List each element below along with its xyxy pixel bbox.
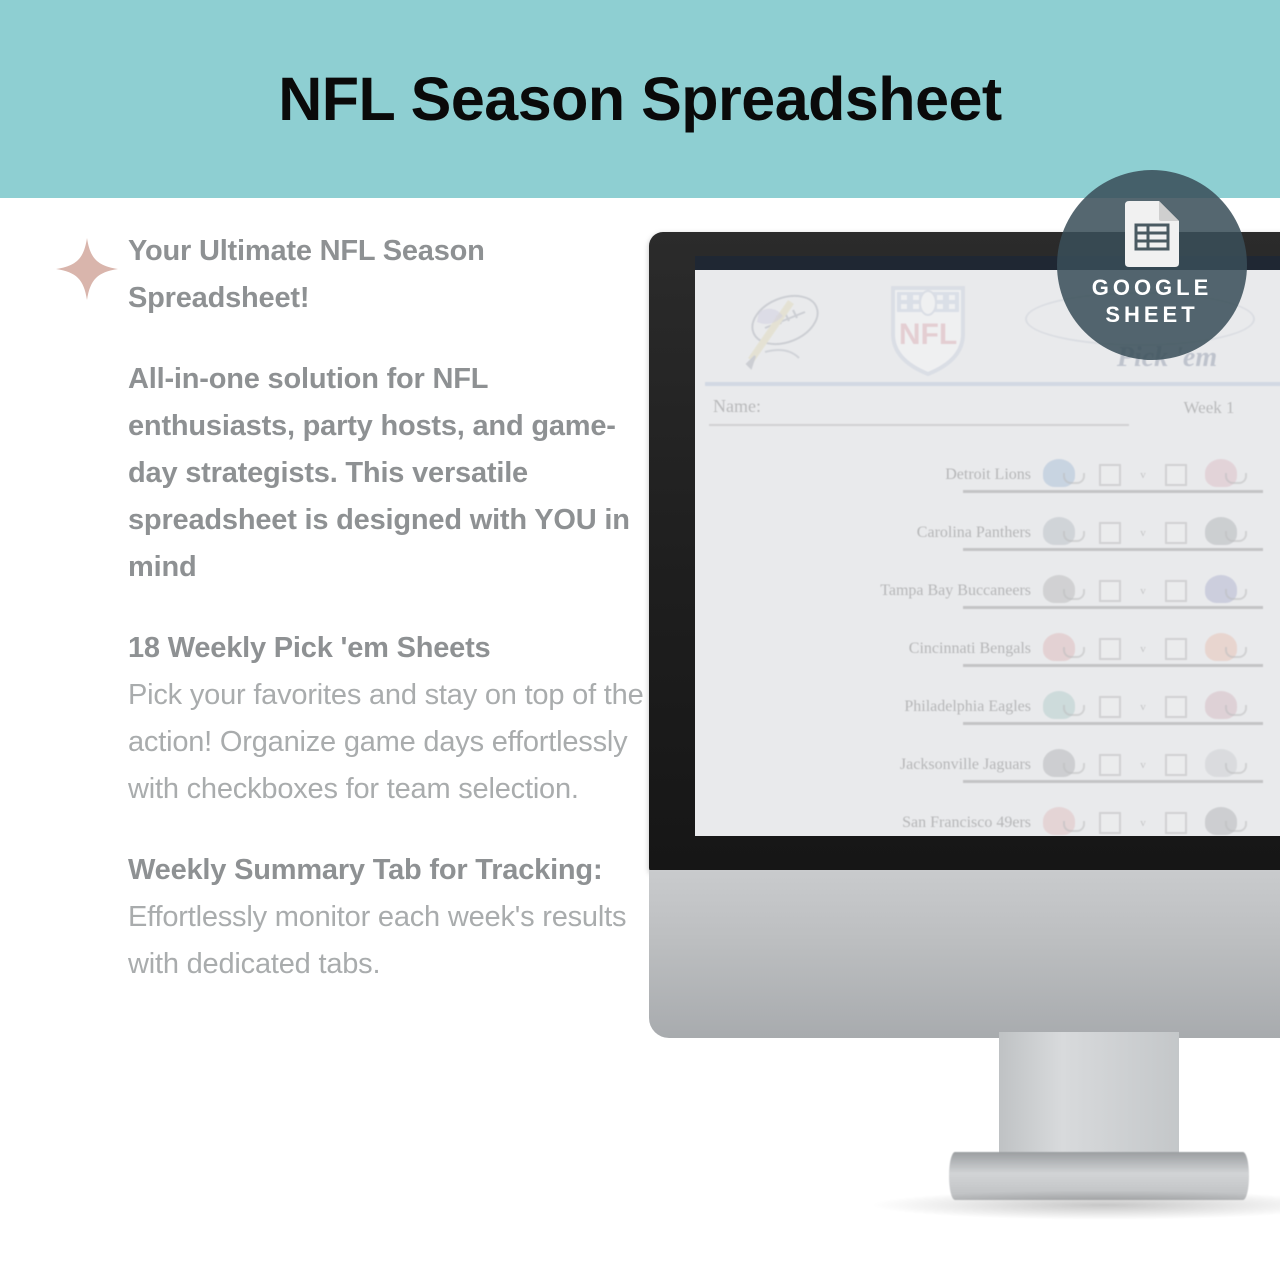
game-row: Cincinnati Bengalsv [709,620,1280,678]
away-team-helmet-icon [1039,457,1085,493]
nfl-shield-logo: NFL [885,282,971,378]
game-row: San Francisco 49ersv [709,794,1280,836]
away-team-name: Detroit Lions [709,466,1039,484]
header-banner: NFL Season Spreadsheet [0,0,1280,198]
home-team-checkbox[interactable] [1165,696,1187,718]
paragraph-summary-heading: Weekly Summary Tab for Tracking: [128,854,602,886]
game-row: Carolina Panthersv [709,504,1280,562]
monitor-stand-neck [999,1032,1179,1172]
away-team-name: Tampa Bay Buccaneers [709,582,1039,600]
away-team-helmet-icon [1039,689,1085,725]
name-input-line[interactable] [709,424,1129,426]
name-row: Name: Week 1 [709,396,1280,432]
home-team-checkbox[interactable] [1165,464,1187,486]
home-team-checkbox[interactable] [1165,522,1187,544]
away-team-helmet-icon [1039,631,1085,667]
away-team-helmet-icon [1039,747,1085,783]
game-row: Detroit Lionsv [709,446,1280,504]
google-sheets-document-icon [1125,201,1179,267]
home-team-checkbox[interactable] [1165,580,1187,602]
away-team-name: Carolina Panthers [709,524,1039,542]
paragraph-solution-text: All-in-one solution for NFL enthusiasts,… [128,356,648,591]
google-sheet-badge: GOOGLE SHEET [1057,170,1247,360]
row-divider [963,548,1263,551]
away-team-name: Cincinnati Bengals [709,640,1039,658]
versus-label: v [1135,469,1151,481]
away-team-checkbox[interactable] [1099,638,1121,660]
row-divider [963,722,1263,725]
away-team-checkbox[interactable] [1099,812,1121,834]
versus-label: v [1135,527,1151,539]
row-divider [963,490,1263,493]
away-team-helmet-icon [1039,515,1085,551]
home-team-checkbox[interactable] [1165,812,1187,834]
monitor-chin [649,870,1280,1038]
spreadsheet-content: NFL Pick 'em Name: Week 1 Detroit Lionsv… [695,270,1280,836]
home-team-helmet-icon [1201,747,1247,783]
badge-line-1: GOOGLE [1092,275,1213,302]
game-row: Philadelphia Eaglesv [709,678,1280,736]
away-team-checkbox[interactable] [1099,696,1121,718]
monitor-mockup: NFL Pick 'em Name: Week 1 Detroit Lionsv… [649,232,1280,1232]
page-title: NFL Season Spreadsheet [278,64,1002,134]
home-team-checkbox[interactable] [1165,638,1187,660]
name-label: Name: [713,396,761,417]
four-point-star-icon [56,238,118,300]
marketing-copy-column: Your Ultimate NFL Season Spreadsheet! Al… [128,228,648,1022]
versus-label: v [1135,585,1151,597]
paragraph-picks-heading: 18 Weekly Pick 'em Sheets [128,632,490,664]
away-team-helmet-icon [1039,573,1085,609]
versus-label: v [1135,759,1151,771]
paragraph-summary: Weekly Summary Tab for Tracking: Effortl… [128,847,648,988]
badge-line-2: SHEET [1105,302,1198,329]
game-row: Jacksonville Jaguarsv [709,736,1280,794]
row-divider [963,664,1263,667]
versus-label: v [1135,817,1151,829]
home-team-helmet-icon [1201,457,1247,493]
home-team-checkbox[interactable] [1165,754,1187,776]
home-team-helmet-icon [1201,689,1247,725]
away-team-helmet-icon [1039,805,1085,836]
football-and-pencil-illustration [721,282,841,374]
home-team-helmet-icon [1201,631,1247,667]
paragraph-picks-text: Pick your favorites and stay on top of t… [128,679,644,805]
game-row: Tampa Bay Buccaneersv [709,562,1280,620]
away-team-name: San Francisco 49ers [709,814,1039,832]
paragraph-intro: Your Ultimate NFL Season Spreadsheet! [128,228,648,322]
header-divider [705,382,1280,386]
away-team-checkbox[interactable] [1099,580,1121,602]
versus-label: v [1135,701,1151,713]
away-team-checkbox[interactable] [1099,522,1121,544]
week-label: Week 1 [1129,398,1280,418]
row-divider [963,606,1263,609]
paragraph-picks: 18 Weekly Pick 'em Sheets Pick your favo… [128,625,648,813]
home-team-helmet-icon [1201,515,1247,551]
row-divider [963,780,1263,783]
away-team-checkbox[interactable] [1099,754,1121,776]
away-team-name: Jacksonville Jaguars [709,756,1039,774]
away-team-checkbox[interactable] [1099,464,1121,486]
paragraph-summary-text: Effortlessly monitor each week's results… [128,901,626,980]
home-team-helmet-icon [1201,805,1247,836]
monitor-shadow [869,1190,1280,1220]
svg-text:NFL: NFL [899,318,957,351]
away-team-name: Philadelphia Eagles [709,698,1039,716]
home-team-helmet-icon [1201,573,1247,609]
paragraph-intro-text: Your Ultimate NFL Season Spreadsheet! [128,228,648,322]
versus-label: v [1135,643,1151,655]
paragraph-solution: All-in-one solution for NFL enthusiasts,… [128,356,648,591]
